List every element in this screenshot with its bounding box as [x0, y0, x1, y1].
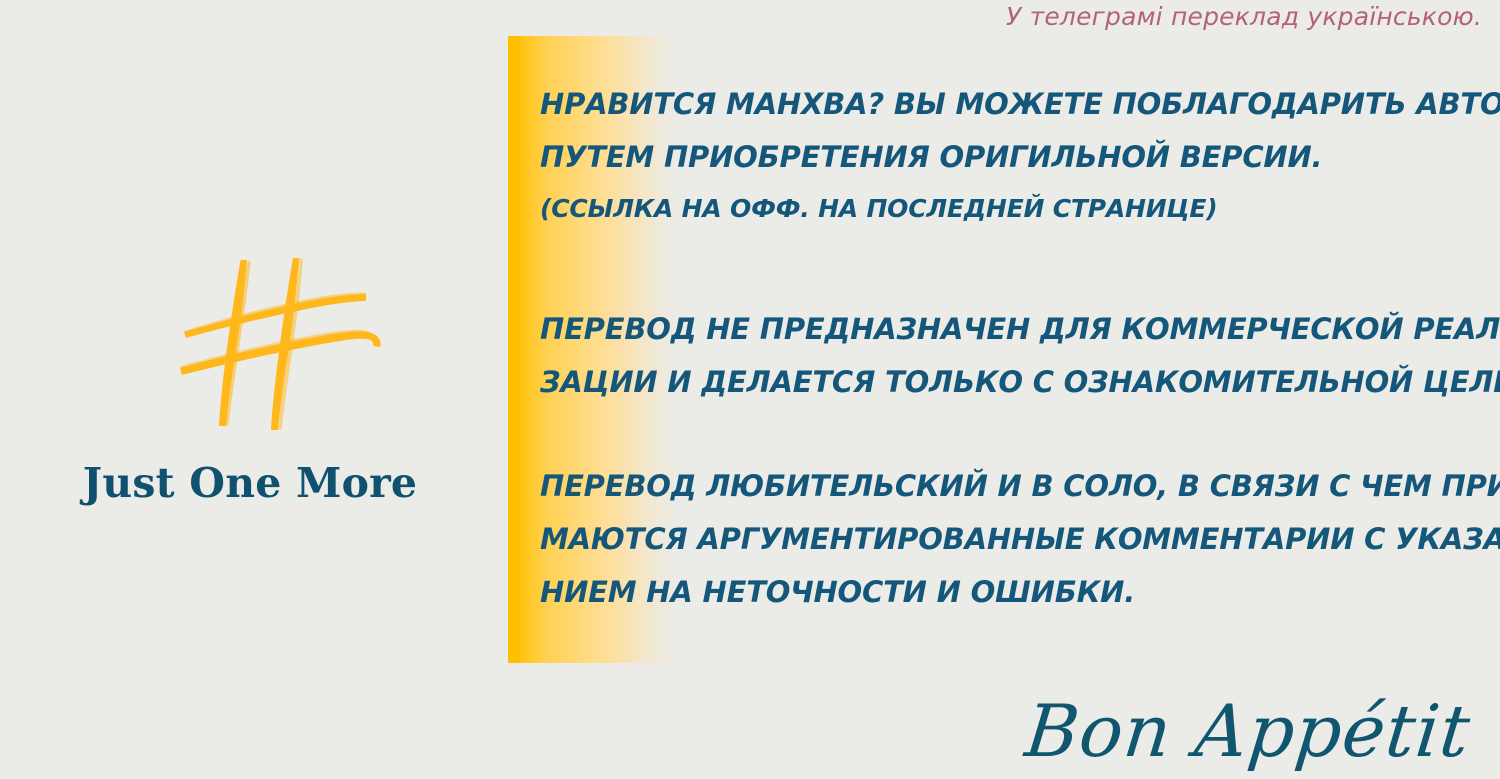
- notice-paragraph-thanks-author: НРАВИТСЯ МАНХВА? ВЫ МОЖЕТЕ ПОБЛАГОДАРИТЬ…: [540, 78, 1500, 234]
- notice-line: ПЕРЕВОД ЛЮБИТЕЛЬСКИЙ И В СОЛО, В СВЯЗИ С…: [540, 460, 1500, 513]
- brand-title: Just One More: [0, 459, 500, 507]
- notice-line: НИЕМ НА НЕТОЧНОСТИ И ОШИБКИ.: [540, 566, 1500, 619]
- hashtag-brush-icon: [180, 252, 385, 434]
- notice-line: ПУТЕМ ПРИОБРЕТЕНИЯ ОРИГИЛЬНОЙ ВЕРСИИ.: [540, 131, 1500, 184]
- notice-line: ЗАЦИИ И ДЕЛАЕТСЯ ТОЛЬКО С ОЗНАКОМИТЕЛЬНО…: [540, 356, 1500, 409]
- brand-column: Just One More: [0, 0, 500, 779]
- notice-line: НРАВИТСЯ МАНХВА? ВЫ МОЖЕТЕ ПОБЛАГОДАРИТЬ…: [540, 78, 1500, 131]
- notice-line: МАЮТСЯ АРГУМЕНТИРОВАННЫЕ КОММЕНТАРИИ С У…: [540, 513, 1500, 566]
- notice-paragraph-non-commercial: ПЕРЕВОД НЕ ПРЕДНАЗНАЧЕН ДЛЯ КОММЕРЧЕСКОЙ…: [540, 303, 1500, 409]
- notice-page: У телеграмі переклад українською.: [0, 0, 1500, 779]
- bon-appetit-signature: Bon Appétit: [1021, 689, 1474, 773]
- notice-paragraph-amateur-solo: ПЕРЕВОД ЛЮБИТЕЛЬСКИЙ И В СОЛО, В СВЯЗИ С…: [540, 460, 1500, 619]
- notice-line: (ССЫЛКА НА ОФФ. НА ПОСЛЕДНЕЙ СТРАНИЦЕ): [540, 184, 1500, 234]
- notice-line: ПЕРЕВОД НЕ ПРЕДНАЗНАЧЕН ДЛЯ КОММЕРЧЕСКОЙ…: [540, 303, 1500, 356]
- telegram-translation-note: У телеграмі переклад українською.: [1006, 2, 1482, 31]
- notice-text-block: НРАВИТСЯ МАНХВА? ВЫ МОЖЕТЕ ПОБЛАГОДАРИТЬ…: [508, 36, 1483, 663]
